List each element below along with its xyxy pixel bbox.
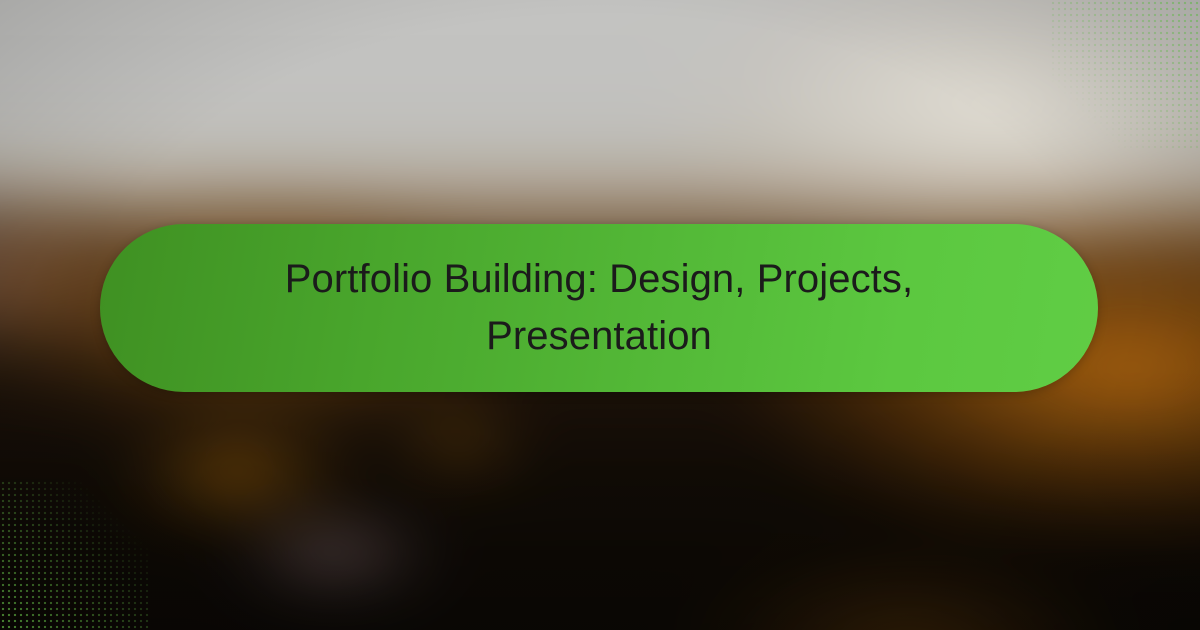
page-title: Portfolio Building: Design, Projects, Pr…	[269, 251, 929, 365]
title-badge: Portfolio Building: Design, Projects, Pr…	[100, 224, 1098, 392]
social-card: Portfolio Building: Design, Projects, Pr…	[0, 0, 1200, 630]
